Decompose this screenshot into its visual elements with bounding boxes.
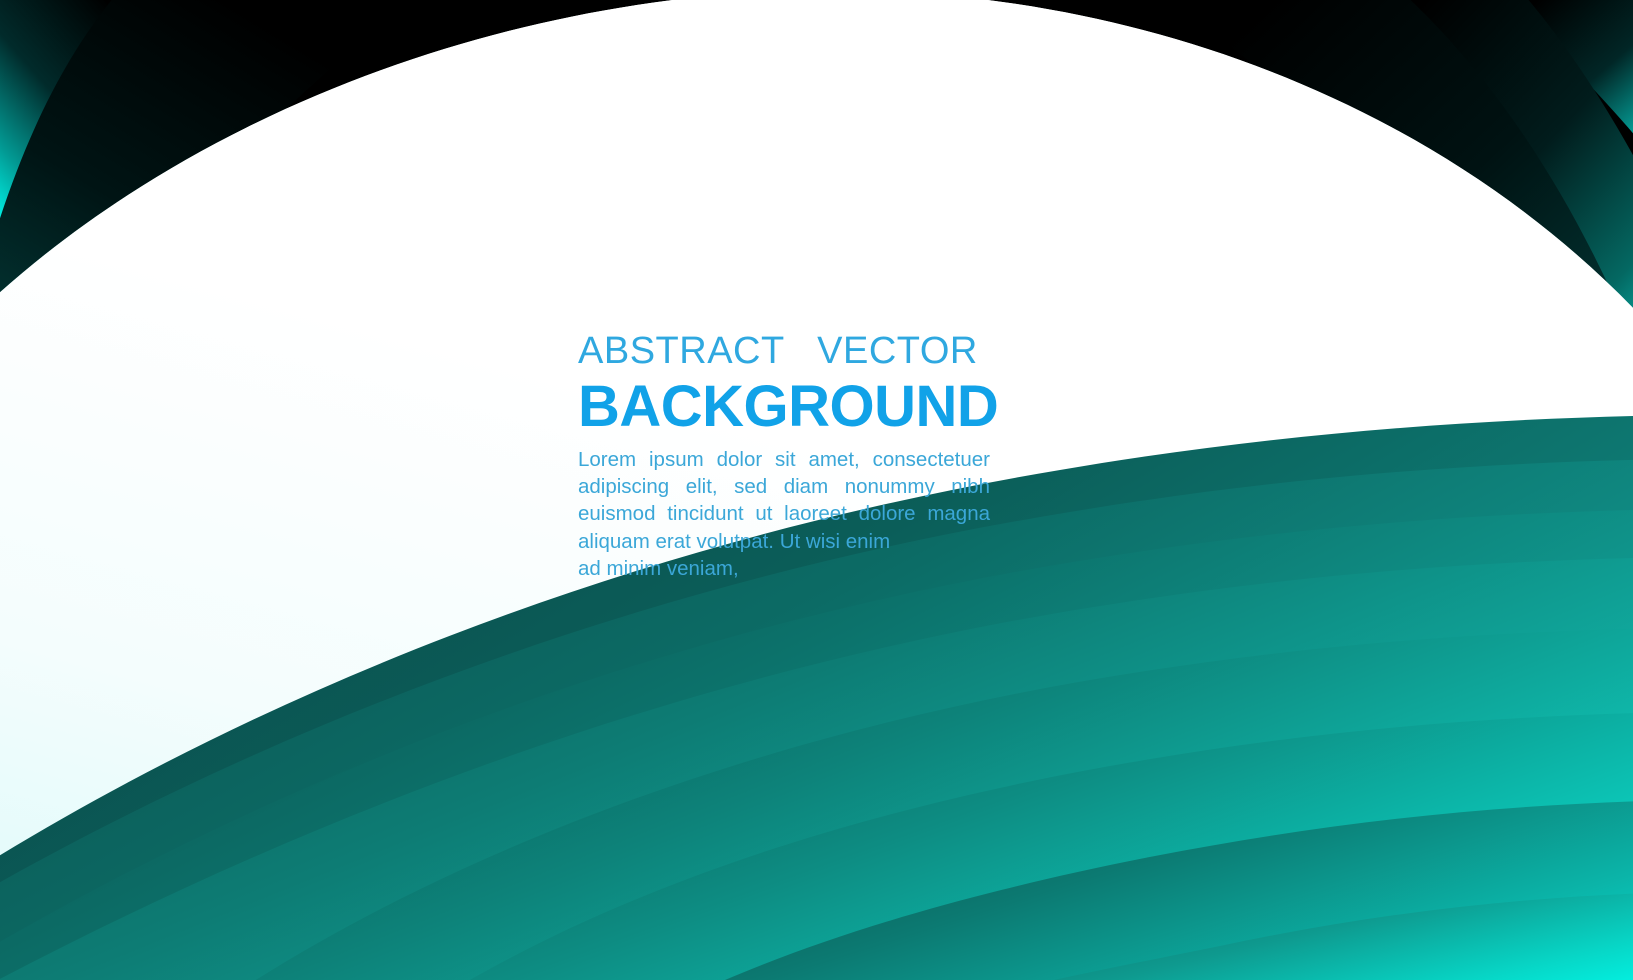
body-paragraph-last-line: ad minim veniam,: [578, 555, 990, 582]
eyebrow-heading: ABSTRACT VECTOR: [578, 332, 998, 372]
body-paragraph-main: Lorem ipsum dolor sit amet, consectetuer…: [578, 448, 990, 553]
main-headline: BACKGROUND: [578, 378, 998, 436]
hero-text-block: ABSTRACT VECTOR BACKGROUND Lorem ipsum d…: [578, 332, 998, 582]
body-paragraph: Lorem ipsum dolor sit amet, consectetuer…: [578, 446, 990, 582]
abstract-background-canvas: ABSTRACT VECTOR BACKGROUND Lorem ipsum d…: [0, 0, 1633, 980]
